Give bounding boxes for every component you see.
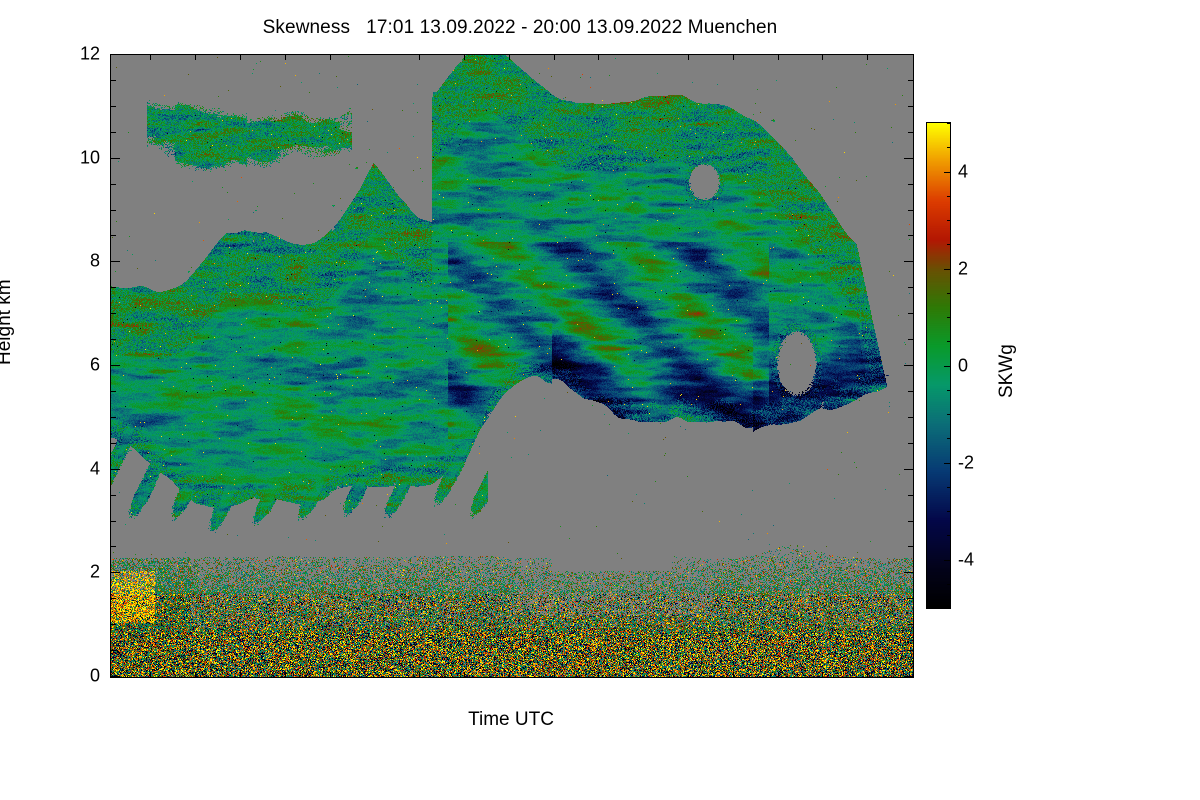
y-tick-major-4 [111, 469, 120, 470]
y-tick-minor [111, 132, 116, 133]
y-tick-major-right-6 [904, 365, 913, 366]
x-tick-minor [733, 672, 734, 677]
colorbar-tick-label--4: -4 [958, 549, 974, 570]
colorbar-tick-label--2: -2 [958, 452, 974, 473]
colorbar-tick-minor [947, 487, 950, 488]
x-tick-minor [688, 672, 689, 677]
x-tick-minor-top [867, 55, 868, 60]
y-tick-minor [111, 546, 116, 547]
y-tick-label-6: 6 [30, 355, 100, 376]
x-tick-minor [150, 672, 151, 677]
y-tick-label-8: 8 [30, 251, 100, 272]
y-tick-minor-right [908, 210, 913, 211]
y-tick-minor [111, 339, 116, 340]
colorbar-tick-4 [944, 172, 950, 173]
y-tick-minor-right [908, 546, 913, 547]
x-tick-minor-top [778, 55, 779, 60]
y-tick-minor-right [908, 235, 913, 236]
y-tick-label-2: 2 [30, 562, 100, 583]
y-tick-minor [111, 287, 116, 288]
y-tick-major-6 [111, 365, 120, 366]
y-tick-minor-right [908, 339, 913, 340]
x-tick-minor-top [509, 55, 510, 60]
y-tick-minor-right [908, 391, 913, 392]
y-tick-minor [111, 521, 116, 522]
colorbar-tick-minor [947, 147, 950, 148]
colorbar-tick-2 [944, 269, 950, 270]
x-tick-minor-top [822, 55, 823, 60]
colorbar-tick-minor [947, 535, 950, 536]
y-tick-minor [111, 80, 116, 81]
x-tick-minor [509, 672, 510, 677]
colorbar-tick-minor [947, 196, 950, 197]
y-tick-major-12 [111, 54, 120, 55]
x-tick-minor-top [419, 55, 420, 60]
colorbar-tick--4 [944, 560, 950, 561]
y-tick-minor-right [908, 184, 913, 185]
y-tick-minor [111, 391, 116, 392]
y-tick-label-4: 4 [30, 458, 100, 479]
y-tick-major-2 [111, 572, 120, 573]
y-tick-major-10 [111, 158, 120, 159]
page-title: Skewness 17:01 13.09.2022 - 20:00 13.09.… [0, 17, 1040, 39]
colorbar-title: SKWg [996, 344, 1018, 398]
colorbar-tick-label-4: 4 [958, 161, 968, 182]
x-tick-minor [554, 672, 555, 677]
plot-axes[interactable] [110, 54, 914, 678]
x-axis-title: Time UTC [0, 709, 1022, 731]
y-tick-minor-right [908, 80, 913, 81]
y-tick-minor [111, 495, 116, 496]
colorbar-tick-minor [947, 390, 950, 391]
x-tick-minor-top [195, 55, 196, 60]
colorbar-tick-label-0: 0 [958, 355, 968, 376]
y-tick-minor-right [908, 417, 913, 418]
y-tick-minor [111, 417, 116, 418]
colorbar-tick-label-2: 2 [958, 258, 968, 279]
colorbar-tick-minor [947, 511, 950, 512]
x-tick-minor [240, 672, 241, 677]
x-tick-minor-top [240, 55, 241, 60]
x-tick-minor [464, 672, 465, 677]
y-tick-label-0: 0 [30, 666, 100, 687]
y-tick-major-right-2 [904, 572, 913, 573]
colorbar-tick-minor [947, 293, 950, 294]
heatmap-data-layer[interactable] [111, 55, 913, 677]
y-tick-minor-right [908, 624, 913, 625]
x-tick-minor [195, 672, 196, 677]
y-tick-label-10: 10 [30, 147, 100, 168]
y-tick-minor [111, 443, 116, 444]
y-tick-minor-right [908, 287, 913, 288]
y-tick-minor-right [908, 313, 913, 314]
x-tick-minor [330, 672, 331, 677]
figure-canvas: Skewness 17:01 13.09.2022 - 20:00 13.09.… [0, 0, 1200, 800]
y-tick-minor [111, 235, 116, 236]
y-tick-minor-right [908, 495, 913, 496]
y-tick-major-right-12 [904, 54, 913, 55]
y-tick-label-12: 12 [30, 44, 100, 65]
colorbar-tick-minor [947, 341, 950, 342]
colorbar-tick-minor [947, 438, 950, 439]
x-tick-minor-top [285, 55, 286, 60]
y-axis-title: Height km [0, 279, 16, 365]
y-tick-major-right-8 [904, 261, 913, 262]
y-tick-minor [111, 184, 116, 185]
y-tick-minor-right [908, 132, 913, 133]
y-tick-major-right-4 [904, 469, 913, 470]
y-tick-minor [111, 106, 116, 107]
colorbar-tick-0 [944, 366, 950, 367]
colorbar-tick-minor [947, 584, 950, 585]
x-tick-minor-top [733, 55, 734, 60]
y-tick-minor-right [908, 521, 913, 522]
colorbar-tick--2 [944, 463, 950, 464]
x-tick-minor-top [688, 55, 689, 60]
y-tick-minor [111, 650, 116, 651]
colorbar-tick-minor [947, 317, 950, 318]
x-tick-minor [419, 672, 420, 677]
y-tick-minor [111, 210, 116, 211]
y-tick-major-right-10 [904, 158, 913, 159]
y-tick-minor-right [908, 650, 913, 651]
colorbar-tick-minor [947, 244, 950, 245]
y-tick-minor [111, 624, 116, 625]
x-tick-minor [285, 672, 286, 677]
x-tick-minor-top [598, 55, 599, 60]
x-tick-minor [598, 672, 599, 677]
colorbar-tick-minor [947, 220, 950, 221]
y-tick-minor [111, 598, 116, 599]
y-tick-minor-right [908, 106, 913, 107]
x-tick-minor [778, 672, 779, 677]
y-tick-major-0 [111, 676, 120, 677]
x-tick-minor-top [554, 55, 555, 60]
x-tick-minor [822, 672, 823, 677]
y-tick-minor [111, 313, 116, 314]
colorbar-tick-minor [947, 123, 950, 124]
y-tick-major-right-0 [904, 676, 913, 677]
x-tick-minor-top [330, 55, 331, 60]
colorbar-tick-minor [947, 414, 950, 415]
y-tick-major-8 [111, 261, 120, 262]
y-tick-minor-right [908, 443, 913, 444]
y-tick-minor-right [908, 598, 913, 599]
x-tick-minor [867, 672, 868, 677]
x-tick-minor-top [464, 55, 465, 60]
x-tick-minor-top [150, 55, 151, 60]
